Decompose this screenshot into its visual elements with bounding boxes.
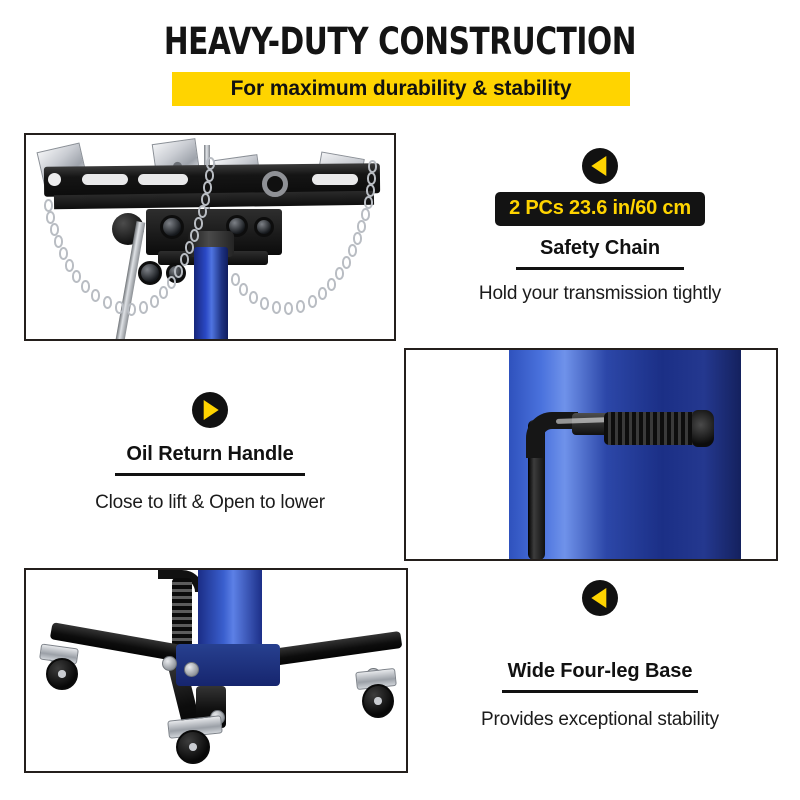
chain-link (150, 295, 159, 308)
handle-photo-panel (404, 348, 778, 561)
chain-link (335, 267, 344, 280)
chain-link (203, 181, 212, 194)
chain-link (348, 244, 357, 257)
saddle-slot (138, 174, 188, 185)
chain-link (54, 235, 63, 248)
saddle-roller (254, 217, 274, 237)
callout-safety-chain: 2 PCs 23.6 in/60 cm Safety Chain Hold yo… (422, 148, 778, 305)
handle-photo (406, 350, 776, 559)
subtitle-banner: For maximum durability & stability (172, 72, 630, 106)
saddle-hydraulic-ram (194, 247, 228, 341)
caster-wheel (362, 684, 394, 718)
base-bolt (162, 656, 177, 671)
chain-link (357, 220, 366, 233)
headline-underline (115, 473, 305, 476)
chain-link (327, 278, 336, 291)
saddle-hole (48, 173, 61, 186)
saddle-roller (160, 215, 184, 239)
saddle-slot (312, 174, 358, 185)
callout-description: Provides exceptional stability (422, 709, 778, 731)
chain-link (284, 302, 293, 315)
chain-link (65, 259, 74, 272)
caster-wheel (176, 730, 210, 764)
chain-link (127, 303, 136, 316)
saddle-photo-panel (24, 133, 396, 341)
chain-link (91, 289, 100, 302)
status-badge: 2 PCs 23.6 in/60 cm (495, 192, 705, 226)
chain-link (167, 276, 176, 289)
chain-link (180, 253, 189, 266)
callout-description: Hold your transmission tightly (422, 283, 778, 305)
base-photo (26, 570, 406, 771)
subtitle-text: For maximum durability & stability (231, 77, 572, 101)
base-photo-panel (24, 568, 408, 773)
chain-link (368, 160, 377, 173)
chain-link (198, 205, 207, 218)
infographic-page: HEAVY-DUTY CONSTRUCTION For maximum dura… (0, 0, 800, 800)
chain-link (272, 301, 281, 314)
triangle-left-icon (582, 148, 618, 184)
chain-link (59, 247, 68, 260)
callout-oil-return-handle: Oil Return Handle Close to lift & Open t… (32, 392, 388, 514)
chain-link (249, 291, 258, 304)
chain-link (174, 265, 183, 278)
triangle-right-icon (192, 392, 228, 428)
headline-underline (516, 267, 684, 270)
chain-link (353, 232, 362, 245)
chain-link (139, 301, 148, 314)
chain-link (194, 217, 203, 230)
saddle-ring (262, 171, 288, 197)
chain-link (318, 287, 327, 300)
chain-link (361, 208, 370, 221)
base-bolt (184, 662, 199, 677)
chain-link (44, 199, 53, 212)
callout-headline: Oil Return Handle (32, 443, 388, 466)
chain-link (72, 270, 81, 283)
headline-underline (502, 690, 698, 693)
chain-link (296, 300, 305, 313)
triangle-left-icon (582, 580, 618, 616)
callout-headline: Wide Four-leg Base (422, 660, 778, 683)
callout-wide-four-leg-base: Wide Four-leg Base Provides exceptional … (422, 580, 778, 731)
caster-wheel (46, 658, 78, 690)
callout-headline: Safety Chain (422, 237, 778, 260)
chain-link (81, 280, 90, 293)
chain-link (367, 172, 376, 185)
chain-link (308, 295, 317, 308)
chain-link (239, 283, 248, 296)
chain-link (342, 256, 351, 269)
chain-link (231, 273, 240, 286)
callout-description: Close to lift & Open to lower (32, 492, 388, 514)
saddle-roller (138, 261, 162, 285)
chain-link (103, 296, 112, 309)
handle-grip-cap (692, 410, 714, 447)
chain-link (366, 184, 375, 197)
chain-link (190, 229, 199, 242)
badge-wrap: 2 PCs 23.6 in/60 cm (422, 192, 778, 226)
chain-link (115, 301, 124, 314)
saddle-photo (26, 135, 394, 339)
chain-link (260, 297, 269, 310)
page-title: HEAVY-DUTY CONSTRUCTION (80, 20, 720, 64)
chain-link (205, 169, 214, 182)
chain-link (201, 193, 210, 206)
return-spring (172, 578, 192, 650)
chain-link (206, 157, 215, 170)
saddle-slot (82, 174, 128, 185)
chain-link (185, 241, 194, 254)
chain-link (159, 286, 168, 299)
chain-link (364, 196, 373, 209)
